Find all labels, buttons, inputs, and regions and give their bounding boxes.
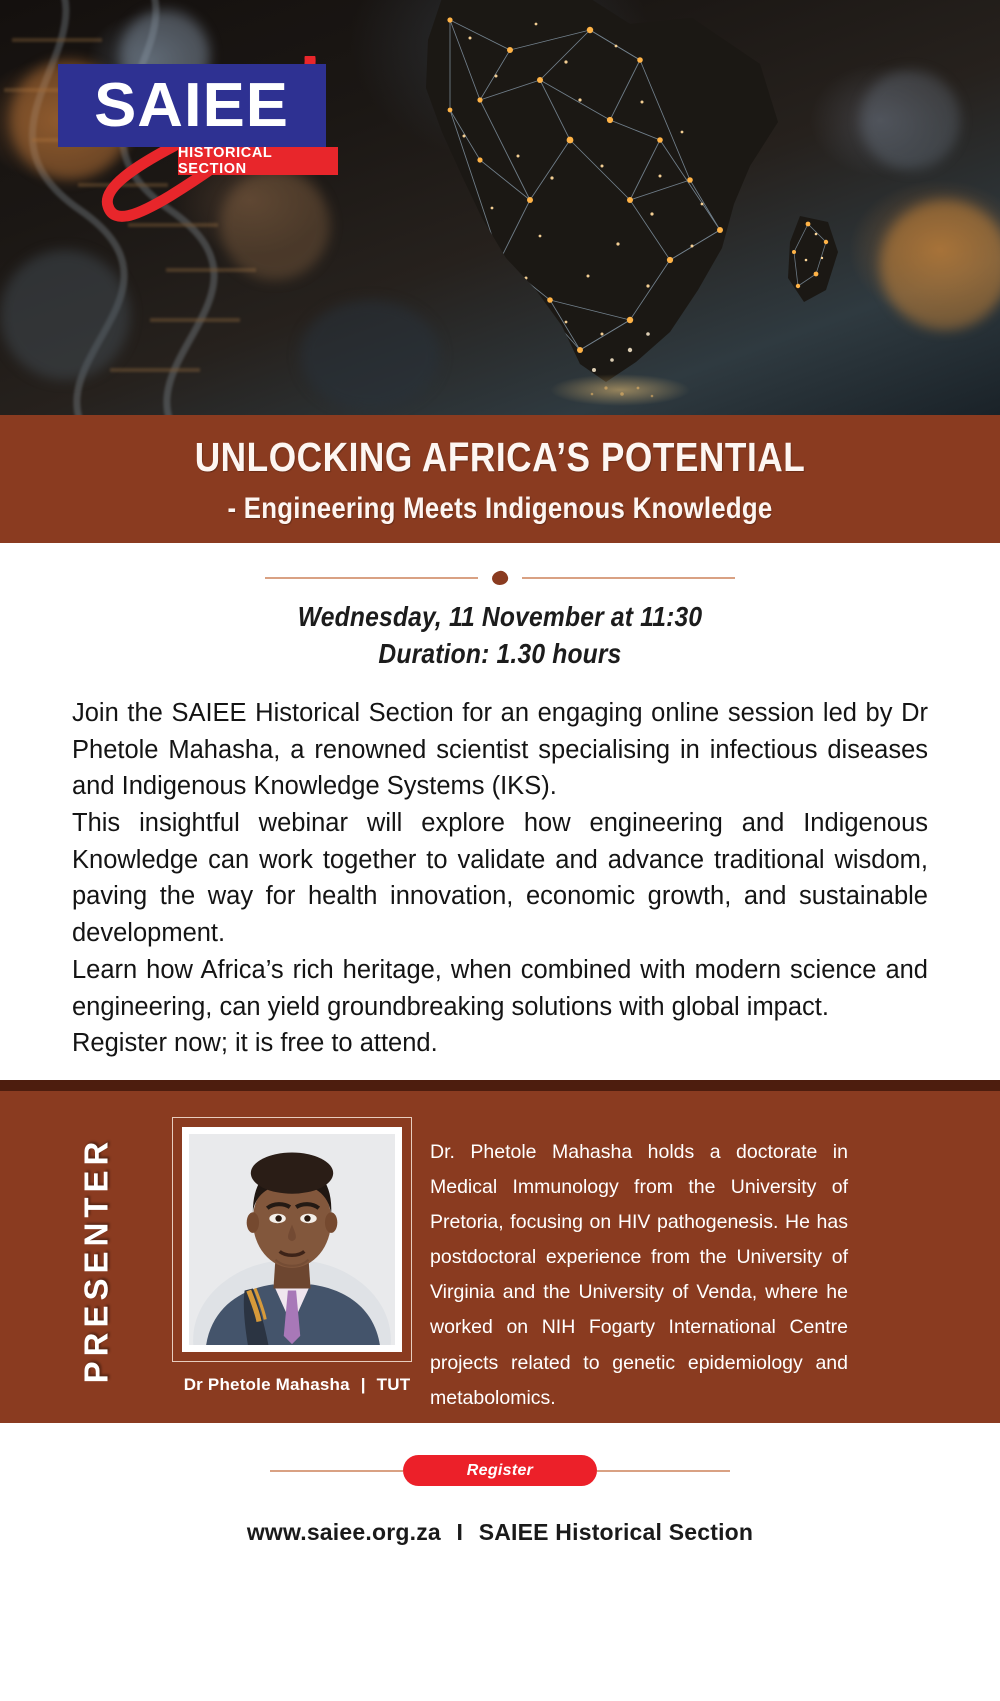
dna-helix-icon [0, 0, 380, 415]
presenter-bio: Dr. Phetole Mahasha holds a doctorate in… [430, 1135, 848, 1416]
description-paragraph-2: This insightful webinar will explore how… [72, 805, 928, 952]
description-paragraph-4: Register now; it is free to attend. [72, 1025, 928, 1062]
presenter-portrait-icon [189, 1134, 395, 1350]
divider-line-left [265, 577, 478, 579]
description-block: Join the SAIEE Historical Section for an… [72, 695, 928, 1062]
description-paragraph-1: Join the SAIEE Historical Section for an… [72, 695, 928, 805]
avatar [182, 1127, 402, 1352]
ornamental-divider [265, 571, 735, 585]
presenter-section-label-text: PRESENTER [77, 1137, 115, 1384]
logo-badge: SAIEE [58, 64, 326, 147]
register-line-left [270, 1470, 403, 1472]
register-button[interactable]: Register [403, 1455, 597, 1486]
bokeh-circle [880, 200, 1000, 330]
logo-section-badge: HISTORICAL SECTION [178, 147, 338, 175]
presenter-caption: Dr Phetole Mahasha | TUT [172, 1375, 422, 1395]
event-date-line: Wednesday, 11 November at 11:30 [60, 599, 940, 636]
africa-map-network-icon [330, 0, 890, 415]
presenter-photo-frame [172, 1117, 412, 1362]
page-subtitle: - Engineering Meets Indigenous Knowledge [70, 491, 930, 527]
register-row: Register [0, 1455, 1000, 1486]
register-line-right [597, 1470, 730, 1472]
footer-contact: www.saiee.org.za I SAIEE Historical Sect… [0, 1519, 1000, 1546]
title-band: UNLOCKING AFRICA’S POTENTIAL - Engineeri… [0, 415, 1000, 543]
saiee-logo[interactable]: SAIEE HISTORICAL SECTION [58, 64, 338, 184]
footer-separator: I [448, 1519, 473, 1545]
website-link[interactable]: www.saiee.org.za [247, 1519, 441, 1545]
hero-banner: SAIEE HISTORICAL SECTION [0, 0, 1000, 415]
logo-section-text: HISTORICAL SECTION [178, 145, 338, 177]
event-datetime: Wednesday, 11 November at 11:30 Duration… [0, 599, 1000, 673]
diamond-blob-icon [491, 569, 510, 586]
page-title: UNLOCKING AFRICA’S POTENTIAL [70, 435, 930, 481]
divider-line-right [522, 577, 735, 579]
presenter-section-label: PRESENTER [66, 1130, 126, 1390]
logo-brand-text: SAIEE [95, 75, 290, 137]
description-paragraph-3: Learn how Africa’s rich heritage, when c… [72, 952, 928, 1025]
event-duration-line: Duration: 1.30 hours [60, 636, 940, 673]
footer-organisation: SAIEE Historical Section [479, 1519, 754, 1545]
presenter-affiliation: TUT [377, 1375, 411, 1394]
footer: Register www.saiee.org.za I SAIEE Histor… [0, 1423, 1000, 1701]
caption-separator: | [355, 1375, 372, 1394]
presenter-name: Dr Phetole Mahasha [184, 1375, 350, 1394]
